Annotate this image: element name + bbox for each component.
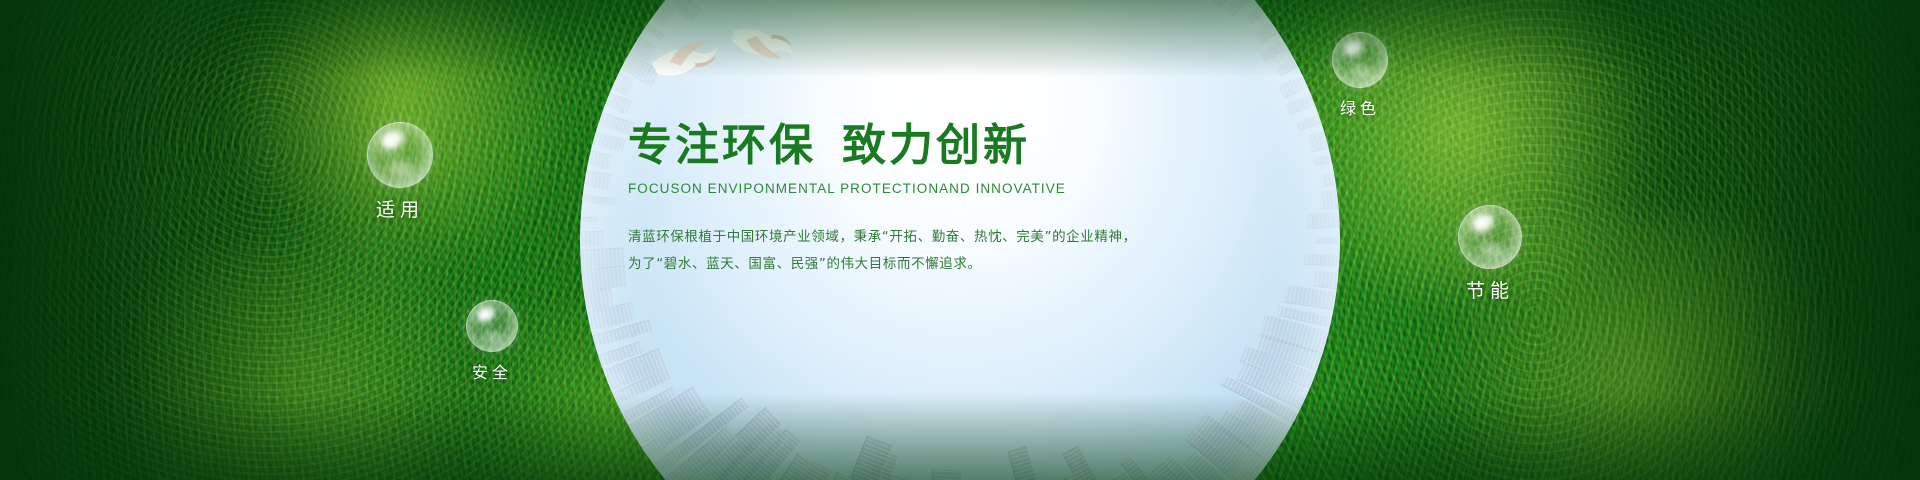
bubble-icon xyxy=(1458,205,1522,269)
headline-part-2: 致力创新 xyxy=(842,120,1030,171)
description-block: 清蓝环保根植于中国环境产业领域，秉承“开拓、勤奋、热忱、完美”的企业精神， 为了… xyxy=(628,224,1328,278)
bubble-icon xyxy=(466,300,518,352)
description-line-1: 清蓝环保根植于中国环境产业领域，秉承“开拓、勤奋、热忱、完美”的企业精神， xyxy=(628,224,1328,251)
headline-part-1: 专注环保 xyxy=(628,120,816,171)
description-line-2: 为了“碧水、蓝天、国富、民强”的伟大目标而不懈追求。 xyxy=(628,251,1328,278)
subtitle-english: FOCUSON ENVIPONMENTAL PROTECTIONAND INNO… xyxy=(628,181,1328,196)
page-title: 专注环保致力创新 xyxy=(628,122,1328,170)
bubble-icon xyxy=(1332,32,1388,88)
bubble-applicable: 适用 xyxy=(330,122,470,222)
bubble-icon xyxy=(367,122,433,188)
hero-banner: 专注环保致力创新 FOCUSON ENVIPONMENTAL PROTECTIO… xyxy=(0,0,1920,480)
bubble-label: 节能 xyxy=(1420,276,1560,303)
bubble-green: 绿色 xyxy=(1300,32,1420,119)
bubble-label: 适用 xyxy=(330,195,470,222)
bubble-label: 安全 xyxy=(432,359,552,383)
bubble-label: 绿色 xyxy=(1300,95,1420,119)
bubble-energy-saving: 节能 xyxy=(1420,205,1560,303)
hero-text-block: 专注环保致力创新 FOCUSON ENVIPONMENTAL PROTECTIO… xyxy=(628,122,1328,278)
bubble-safe: 安全 xyxy=(432,300,552,383)
